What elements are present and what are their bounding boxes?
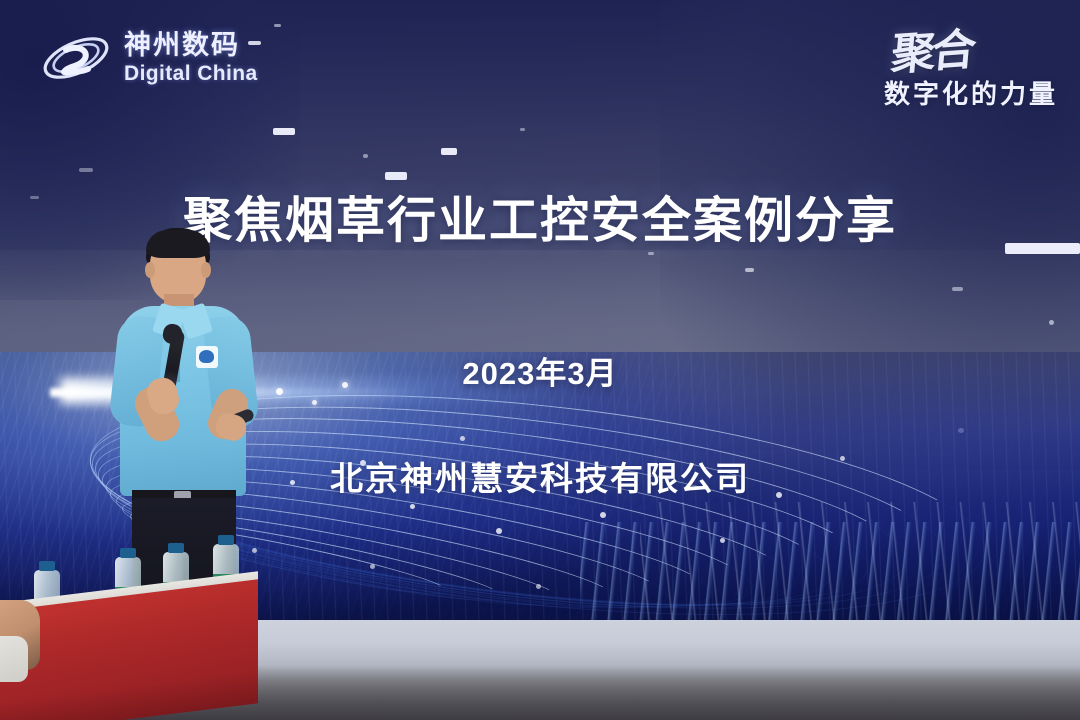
bottle-cap: [168, 543, 184, 553]
foreground-attendee-sleeve: [0, 636, 28, 682]
logo-chinese-text: 神州数码: [124, 32, 258, 59]
particle-dot: [496, 528, 502, 534]
logo-english-text: Digital China: [124, 63, 258, 84]
particle-dot: [536, 584, 541, 589]
speaker-ear-left: [145, 262, 155, 278]
light-dash: [520, 128, 525, 131]
digital-china-logo: 神州数码 Digital China: [38, 18, 298, 98]
light-dash: [745, 268, 754, 272]
light-dash: [385, 172, 407, 180]
bottle-cap: [218, 535, 234, 545]
event-logo-calligraphy: 聚合: [889, 13, 975, 82]
light-dash: [952, 287, 963, 291]
event-logo: 聚合 数字化的力量: [808, 16, 1058, 112]
bottle-cap: [120, 548, 136, 558]
bottle-cap: [39, 561, 55, 571]
light-dash: [441, 148, 457, 155]
speaker-ear-right: [201, 262, 211, 278]
digital-china-swirl-logo: [38, 28, 114, 88]
speaker-hair-top: [146, 230, 210, 258]
particle-dot: [720, 538, 725, 543]
light-dash: [648, 252, 654, 255]
particle-dot: [460, 436, 465, 441]
light-dash: [273, 128, 295, 135]
fiber-streaks-right-2: [640, 502, 1080, 627]
digital-china-wordmark: 神州数码 Digital China: [124, 32, 258, 84]
particle-dot: [312, 400, 317, 405]
light-dash: [79, 168, 93, 172]
presentation-photo: 神州数码 Digital China 聚合 数字化的力量 聚焦烟草行业工控安全案…: [0, 0, 1080, 720]
particle-dot: [600, 512, 606, 518]
speaker-chest-badge-emblem: [199, 350, 214, 363]
particle-dot: [370, 564, 375, 569]
light-dash: [363, 154, 368, 158]
light-dot: [1049, 320, 1054, 325]
particle-dot: [410, 504, 415, 509]
